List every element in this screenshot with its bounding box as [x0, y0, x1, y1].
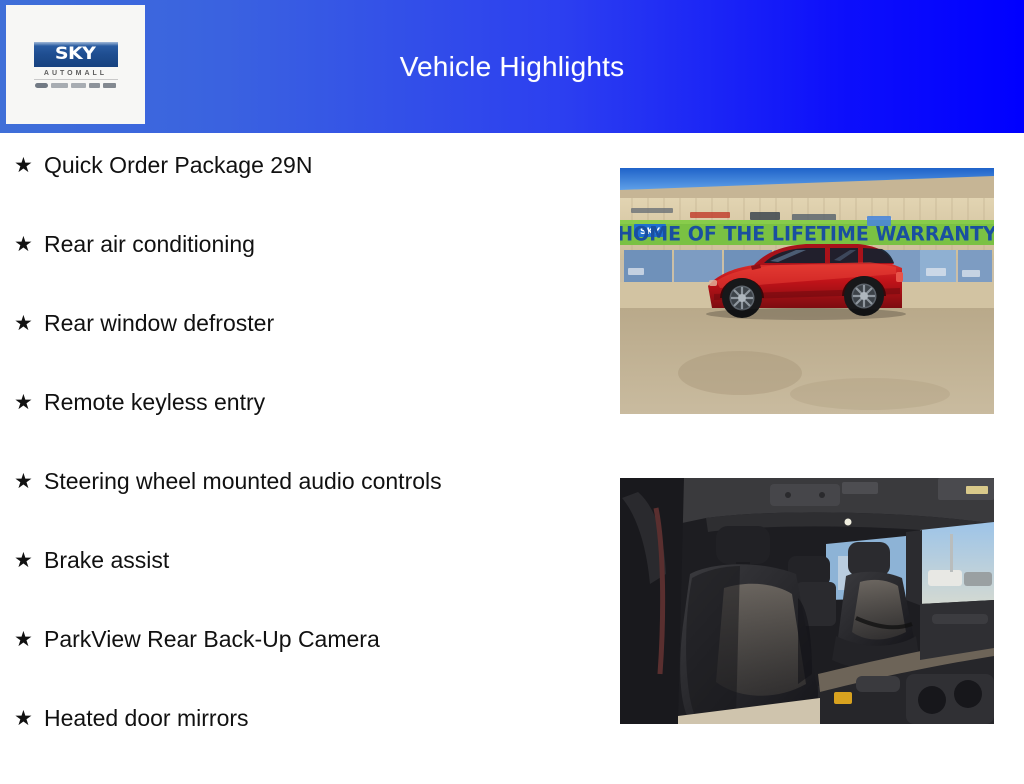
- feature-label: Brake assist: [44, 547, 169, 573]
- sky-wordmark: SKY: [55, 44, 96, 64]
- ford-logo-icon: [35, 83, 48, 88]
- star-bullet-icon: ★: [14, 468, 44, 494]
- vehicle-interior-photo[interactable]: [620, 478, 994, 724]
- feature-label: Rear air conditioning: [44, 231, 255, 257]
- feature-label: Steering wheel mounted audio controls: [44, 468, 442, 494]
- feature-list: ★ Quick Order Package 29N ★ Rear air con…: [14, 152, 594, 784]
- star-bullet-icon: ★: [14, 310, 44, 336]
- feature-label: Heated door mirrors: [44, 705, 249, 731]
- star-bullet-icon: ★: [14, 231, 44, 257]
- list-item: ★ ParkView Rear Back-Up Camera: [14, 626, 594, 705]
- logo-divider: [34, 79, 118, 80]
- list-item: ★ Steering wheel mounted audio controls: [14, 468, 594, 547]
- star-bullet-icon: ★: [14, 152, 44, 178]
- star-bullet-icon: ★: [14, 547, 44, 573]
- list-item: ★ Brake assist: [14, 547, 594, 626]
- chrysler-logo-icon: [51, 83, 68, 88]
- page-header: Vehicle Highlights: [0, 0, 1024, 133]
- vehicle-highlights-slide: Vehicle Highlights SKY AUTOMALL ★ Quick …: [0, 0, 1024, 768]
- list-item: ★ Rear window defroster: [14, 310, 594, 389]
- feature-label: Rear window defroster: [44, 310, 274, 336]
- feature-label: Remote keyless entry: [44, 389, 265, 415]
- dealer-logo-card[interactable]: SKY AUTOMALL: [6, 5, 145, 124]
- star-bullet-icon: ★: [14, 626, 44, 652]
- feature-label: Quick Order Package 29N: [44, 152, 312, 178]
- dodge-logo-icon: [71, 83, 86, 88]
- list-item: ★ Rear air conditioning: [14, 231, 594, 310]
- star-bullet-icon: ★: [14, 705, 44, 731]
- page-title: Vehicle Highlights: [0, 0, 1024, 133]
- feature-label: ParkView Rear Back-Up Camera: [44, 626, 380, 652]
- automall-subtitle: AUTOMALL: [44, 70, 107, 77]
- svg-text:HOME OF THE LIFETIME WARRANTY: HOME OF THE LIFETIME WARRANTY: [620, 222, 994, 246]
- brand-logo-strip: [30, 83, 122, 88]
- ram-logo-icon: [103, 83, 116, 88]
- star-bullet-icon: ★: [14, 389, 44, 415]
- list-item: ★ Remote keyless entry: [14, 389, 594, 468]
- list-item: ★ Heated door mirrors: [14, 705, 594, 784]
- jeep-logo-icon: [89, 83, 100, 88]
- list-item: ★ Quick Order Package 29N: [14, 152, 594, 231]
- sky-badge: SKY: [34, 42, 118, 67]
- vehicle-exterior-photo[interactable]: SKY HOME OF THE LIFETIME WARRANTY: [620, 168, 994, 414]
- dealer-logo: SKY AUTOMALL: [28, 42, 124, 88]
